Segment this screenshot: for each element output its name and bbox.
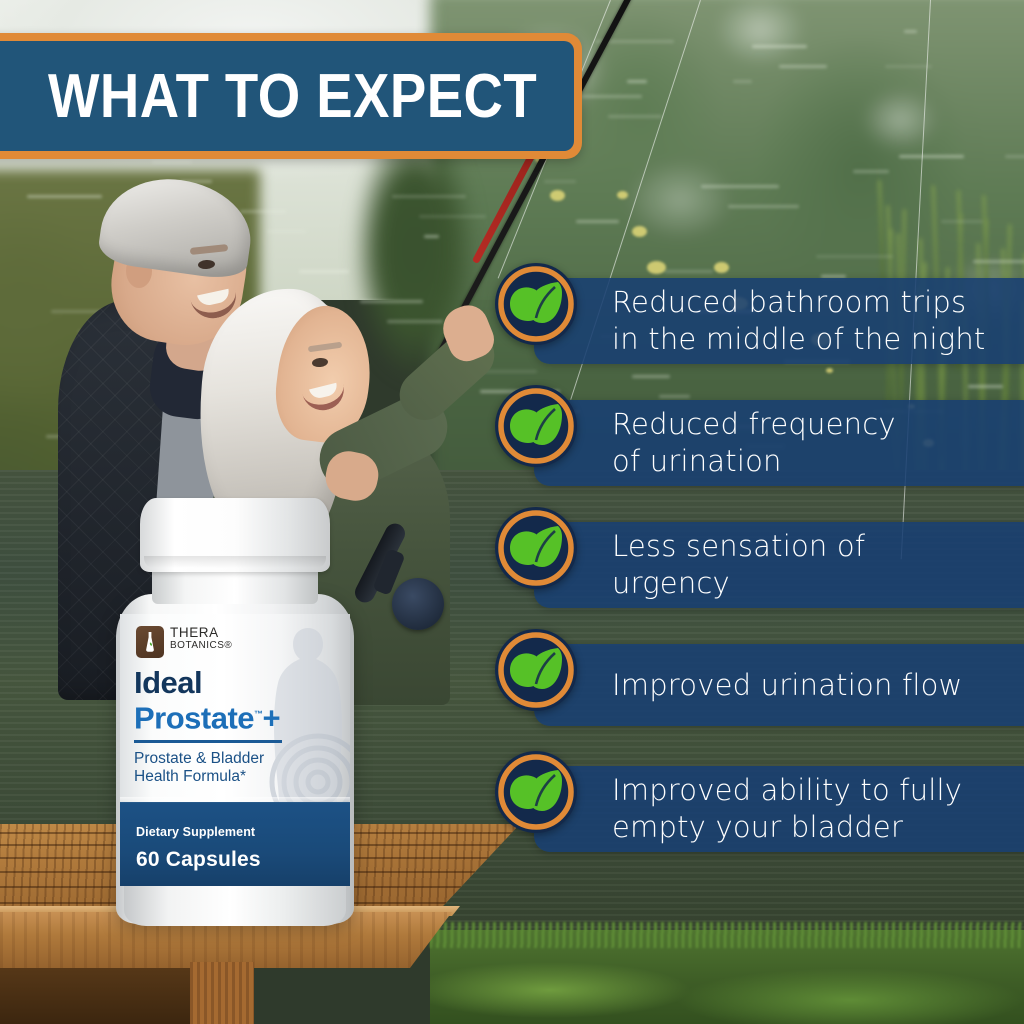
- product-subtitle: Prostate & Bladder Health Formula*: [134, 750, 304, 786]
- bottle-cap: [140, 498, 330, 572]
- benefit-item-4[interactable]: Improved urination flow: [492, 626, 1012, 748]
- subtitle-line-2: Health Formula*: [134, 768, 304, 786]
- benefit-line-1: Reduced frequency: [612, 406, 896, 443]
- benefit-line-1: Reduced bathroom trips: [612, 284, 985, 321]
- subtitle-line-1: Prostate & Bladder: [134, 750, 304, 768]
- benefit-pill[interactable]: Less sensation ofurgency: [534, 522, 1024, 608]
- dock-shadow: [0, 960, 210, 1024]
- grass-bank: [430, 930, 1024, 1024]
- dock-leg: [190, 962, 254, 1024]
- benefits-list: Reduced bathroom tripsin the middle of t…: [492, 260, 1012, 870]
- leaf-icon: [492, 748, 580, 836]
- benefit-item-5[interactable]: Improved ability to fullyempty your blad…: [492, 748, 1012, 870]
- benefit-pill[interactable]: Reduced frequencyof urination: [534, 400, 1024, 486]
- benefit-line-1: Improved urination flow: [612, 667, 962, 704]
- supplement-label: Dietary Supplement: [136, 825, 255, 839]
- benefit-line-1: Less sensation of: [612, 528, 865, 565]
- brand-name: THERA BOTANICS®: [170, 625, 232, 652]
- leaf-icon: [492, 626, 580, 714]
- product-name-line-1: Ideal: [134, 666, 202, 699]
- benefit-item-3[interactable]: Less sensation ofurgency: [492, 504, 1012, 626]
- capsule-count: 60 Capsules: [136, 848, 261, 872]
- benefit-item-1[interactable]: Reduced bathroom tripsin the middle of t…: [492, 260, 1012, 382]
- benefit-line-2: empty your bladder: [612, 809, 962, 846]
- product-name-plus: +: [263, 700, 281, 735]
- benefit-line-2: in the middle of the night: [612, 321, 985, 358]
- leaf-icon: [492, 504, 580, 592]
- page-title: WHAT TO EXPECT: [48, 61, 537, 132]
- benefit-text: Less sensation ofurgency: [612, 528, 865, 602]
- label-divider: [134, 740, 282, 743]
- label-blue-band: Dietary Supplement 60 Capsules: [120, 802, 350, 886]
- benefit-line-2: urgency: [612, 565, 865, 602]
- header-banner: WHAT TO EXPECT: [0, 33, 582, 159]
- benefit-line-1: Improved ability to fully: [612, 772, 962, 809]
- benefit-text: Reduced frequencyof urination: [612, 406, 896, 480]
- fishing-reel: [392, 578, 444, 630]
- benefit-text: Improved ability to fullyempty your blad…: [612, 772, 962, 846]
- product-name-main: Prostate: [134, 700, 254, 735]
- header-banner-inner: WHAT TO EXPECT: [0, 41, 574, 151]
- benefit-text: Improved urination flow: [612, 667, 962, 704]
- benefit-pill[interactable]: Improved urination flow: [534, 644, 1024, 726]
- product-name-line-2: Prostate™+: [134, 698, 280, 734]
- flask-leaf-icon: [145, 631, 155, 653]
- benefit-text: Reduced bathroom tripsin the middle of t…: [612, 284, 985, 358]
- brand-line-2: BOTANICS®: [170, 640, 232, 652]
- trademark-symbol: ™: [254, 709, 263, 719]
- benefit-line-2: of urination: [612, 443, 896, 480]
- benefit-pill[interactable]: Improved ability to fullyempty your blad…: [534, 766, 1024, 852]
- benefit-pill[interactable]: Reduced bathroom tripsin the middle of t…: [534, 278, 1024, 364]
- bottle-base: [124, 884, 346, 926]
- leaf-icon: [492, 260, 580, 348]
- thera-botanics-logo-mark: [136, 626, 164, 658]
- promo-graphic: THERA BOTANICS® Ideal Prostate™+ Prostat…: [0, 0, 1024, 1024]
- leaf-icon: [492, 382, 580, 470]
- benefit-item-2[interactable]: Reduced frequencyof urination: [492, 382, 1012, 504]
- brand-line-1: THERA: [170, 625, 232, 640]
- product-bottle: THERA BOTANICS® Ideal Prostate™+ Prostat…: [108, 498, 356, 928]
- bottle-label: THERA BOTANICS® Ideal Prostate™+ Prostat…: [120, 614, 350, 886]
